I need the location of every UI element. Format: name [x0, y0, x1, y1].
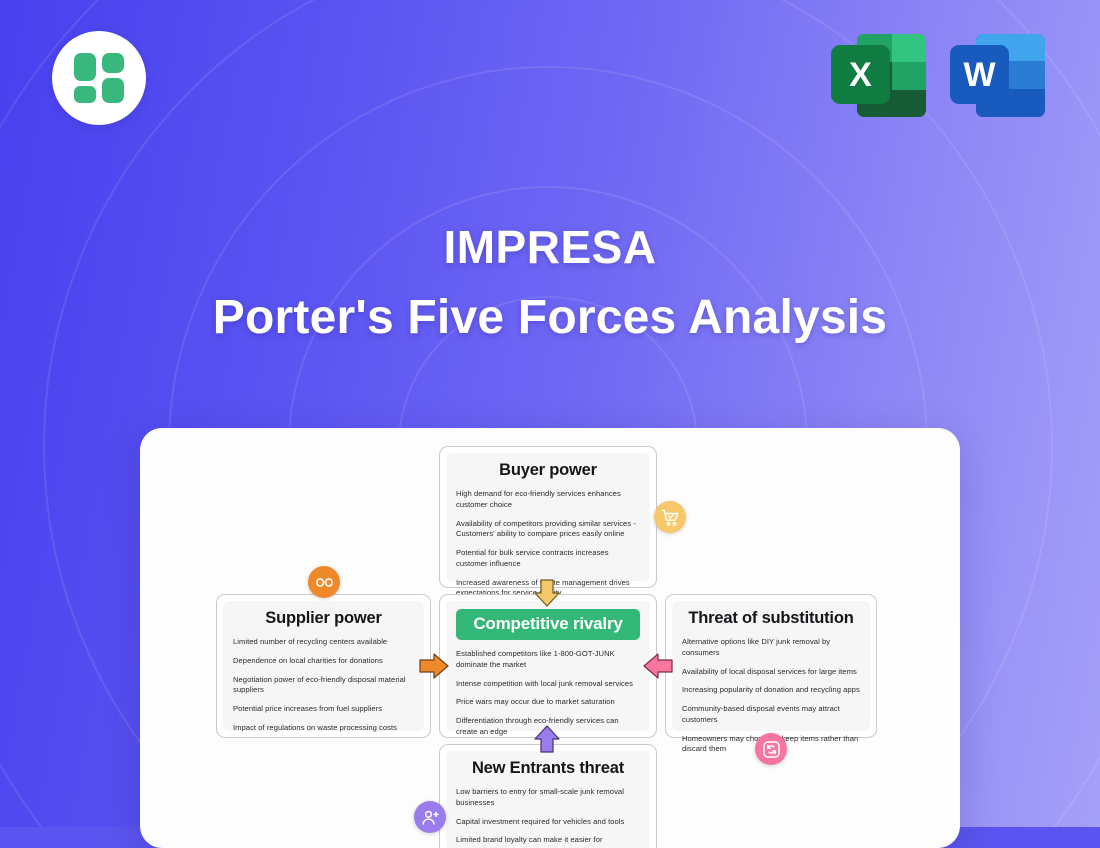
title-block: IMPRESA Porter's Five Forces Analysis: [0, 220, 1100, 345]
list-item: Price wars may occur due to market satur…: [456, 697, 640, 708]
shopping-cart-icon: [661, 508, 680, 527]
list-item: Availability of local disposal services …: [682, 667, 860, 678]
excel-icon-letter: X: [831, 45, 890, 104]
force-box-threat-of-substitution[interactable]: Threat of substitution Alternative optio…: [665, 594, 877, 738]
force-title-new-entrants-threat: New Entrants threat: [456, 759, 640, 778]
excel-icon[interactable]: X: [831, 28, 926, 123]
list-item: Potential price increases from fuel supp…: [233, 704, 414, 715]
brand-logo[interactable]: [52, 31, 146, 125]
list-item: Negotiation power of eco-friendly dispos…: [233, 675, 414, 697]
add-user-icon: [421, 808, 440, 827]
diagram-panel: Buyer power High demand for eco-friendly…: [140, 428, 960, 848]
badge-supplier-power[interactable]: [308, 566, 340, 598]
list-item: High demand for eco-friendly services en…: [456, 489, 640, 511]
force-title-threat-of-substitution: Threat of substitution: [682, 609, 860, 628]
list-item: Availability of competitors providing si…: [456, 519, 640, 541]
list-item: Potential for bulk service contracts inc…: [456, 548, 640, 570]
force-box-supplier-power[interactable]: Supplier power Limited number of recycli…: [216, 594, 431, 738]
page-subtitle: Porter's Five Forces Analysis: [0, 290, 1100, 345]
force-title-competitive-rivalry: Competitive rivalry: [456, 609, 640, 640]
force-points-new-entrants-threat: Low barriers to entry for small-scale ju…: [456, 787, 640, 848]
export-format-icons: X W: [831, 28, 1045, 123]
force-box-buyer-power[interactable]: Buyer power High demand for eco-friendly…: [439, 446, 657, 588]
force-box-competitive-rivalry[interactable]: Competitive rivalry Established competit…: [439, 594, 657, 738]
list-item: Low barriers to entry for small-scale ju…: [456, 787, 640, 809]
badge-threat-of-substitution[interactable]: [755, 733, 787, 765]
word-icon-letter: W: [950, 45, 1009, 104]
badge-buyer-power[interactable]: [654, 501, 686, 533]
link-chain-icon: [315, 573, 334, 592]
word-icon[interactable]: W: [950, 28, 1045, 123]
list-item: Community-based disposal events may attr…: [682, 704, 860, 726]
list-item: Limited number of recycling centers avai…: [233, 637, 414, 648]
force-points-supplier-power: Limited number of recycling centers avai…: [233, 637, 414, 734]
page-title: IMPRESA: [0, 220, 1100, 274]
force-title-buyer-power: Buyer power: [456, 461, 640, 480]
grid-logo-icon: [74, 53, 124, 103]
list-item: Impact of regulations on waste processin…: [233, 723, 414, 734]
list-item: Limited brand loyalty can make it easier…: [456, 835, 640, 848]
list-item: Intense competition with local junk remo…: [456, 679, 640, 690]
list-item: Established competitors like 1-800-GOT-J…: [456, 649, 640, 671]
list-item: Alternative options like DIY junk remova…: [682, 637, 860, 659]
refresh-sync-icon: [762, 740, 781, 759]
list-item: Dependence on local charities for donati…: [233, 656, 414, 667]
force-title-supplier-power: Supplier power: [233, 609, 414, 628]
badge-new-entrants-threat[interactable]: [414, 801, 446, 833]
list-item: Increasing popularity of donation and re…: [682, 685, 860, 696]
porters-five-forces-diagram: Buyer power High demand for eco-friendly…: [140, 428, 960, 848]
list-item: Capital investment required for vehicles…: [456, 817, 640, 828]
force-box-new-entrants-threat[interactable]: New Entrants threat Low barriers to entr…: [439, 744, 657, 848]
